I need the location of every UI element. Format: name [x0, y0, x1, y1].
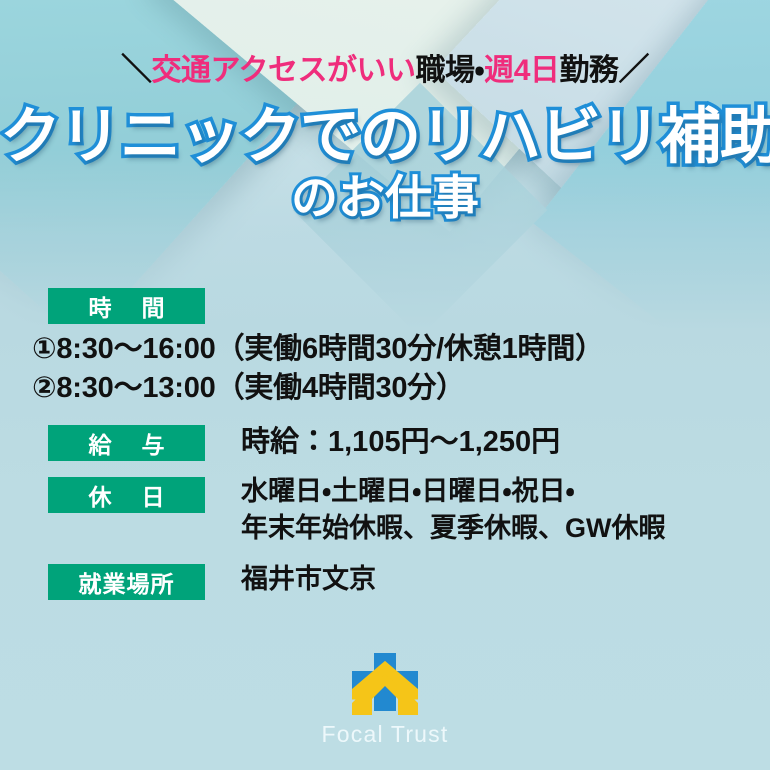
poster-content: ＼交通アクセスがいい職場・週4日勤務／ クリニックでのリハビリ補助 のお仕事 時… [0, 0, 770, 770]
headline-line-2: のお仕事 [0, 174, 770, 221]
catch-copy: ＼交通アクセスがいい職場・週4日勤務／ [0, 54, 770, 86]
catch-copy-slash-right: ／ [618, 54, 649, 85]
footer-branding: Focal Trust [0, 653, 770, 748]
cross-arrow-logo-icon [348, 653, 422, 715]
catch-copy-segment-access: 交通アクセスがいい [152, 54, 416, 87]
detail-value-wage: 時給：1,105円〜1,250円 [241, 423, 560, 461]
catch-copy-segment-work: 勤務 [559, 54, 618, 87]
detail-label-holidays: 休日 [48, 477, 205, 513]
catch-copy-segment-days: 週4日 [484, 54, 559, 87]
detail-row-hours: 時間 ①8:30〜16:00（実働6時間30分/休憩1時間） ②8:30〜13:… [0, 288, 770, 409]
catch-copy-slash-left: ＼ [121, 54, 152, 85]
job-details-list: 時間 ①8:30〜16:00（実働6時間30分/休憩1時間） ②8:30〜13:… [0, 288, 770, 600]
detail-label-hours: 時間 [48, 288, 205, 324]
detail-label-location-text: 就業場所 [79, 565, 175, 599]
headline: クリニックでのリハビリ補助 のお仕事 [0, 106, 770, 221]
detail-label-wage: 給与 [48, 425, 205, 461]
detail-value-location: 福井市文京 [241, 562, 376, 598]
catch-copy-segment-workplace: 職場・ [416, 54, 485, 87]
detail-row-wage: 給与 時給：1,105円〜1,250円 [0, 425, 770, 461]
job-advertisement-poster: ＼交通アクセスがいい職場・週4日勤務／ クリニックでのリハビリ補助 のお仕事 時… [0, 0, 770, 770]
detail-row-holidays: 休日 水曜日・土曜日・日曜日・祝日・ 年末年始休暇、夏季休暇、GW休暇 [0, 477, 770, 548]
detail-label-holidays-text: 休日 [59, 478, 195, 512]
detail-label-location: 就業場所 [48, 564, 205, 600]
detail-label-hours-text: 時間 [59, 289, 195, 323]
headline-line-1: クリニックでのリハビリ補助 [0, 106, 770, 167]
brand-name: Focal Trust [0, 721, 770, 748]
detail-value-hours: ①8:30〜16:00（実働6時間30分/休憩1時間） ②8:30〜13:00（… [32, 330, 770, 409]
detail-value-holidays: 水曜日・土曜日・日曜日・祝日・ 年末年始休暇、夏季休暇、GW休暇 [241, 473, 666, 548]
detail-label-wage-text: 給与 [59, 426, 195, 460]
detail-row-location: 就業場所 福井市文京 [0, 564, 770, 600]
